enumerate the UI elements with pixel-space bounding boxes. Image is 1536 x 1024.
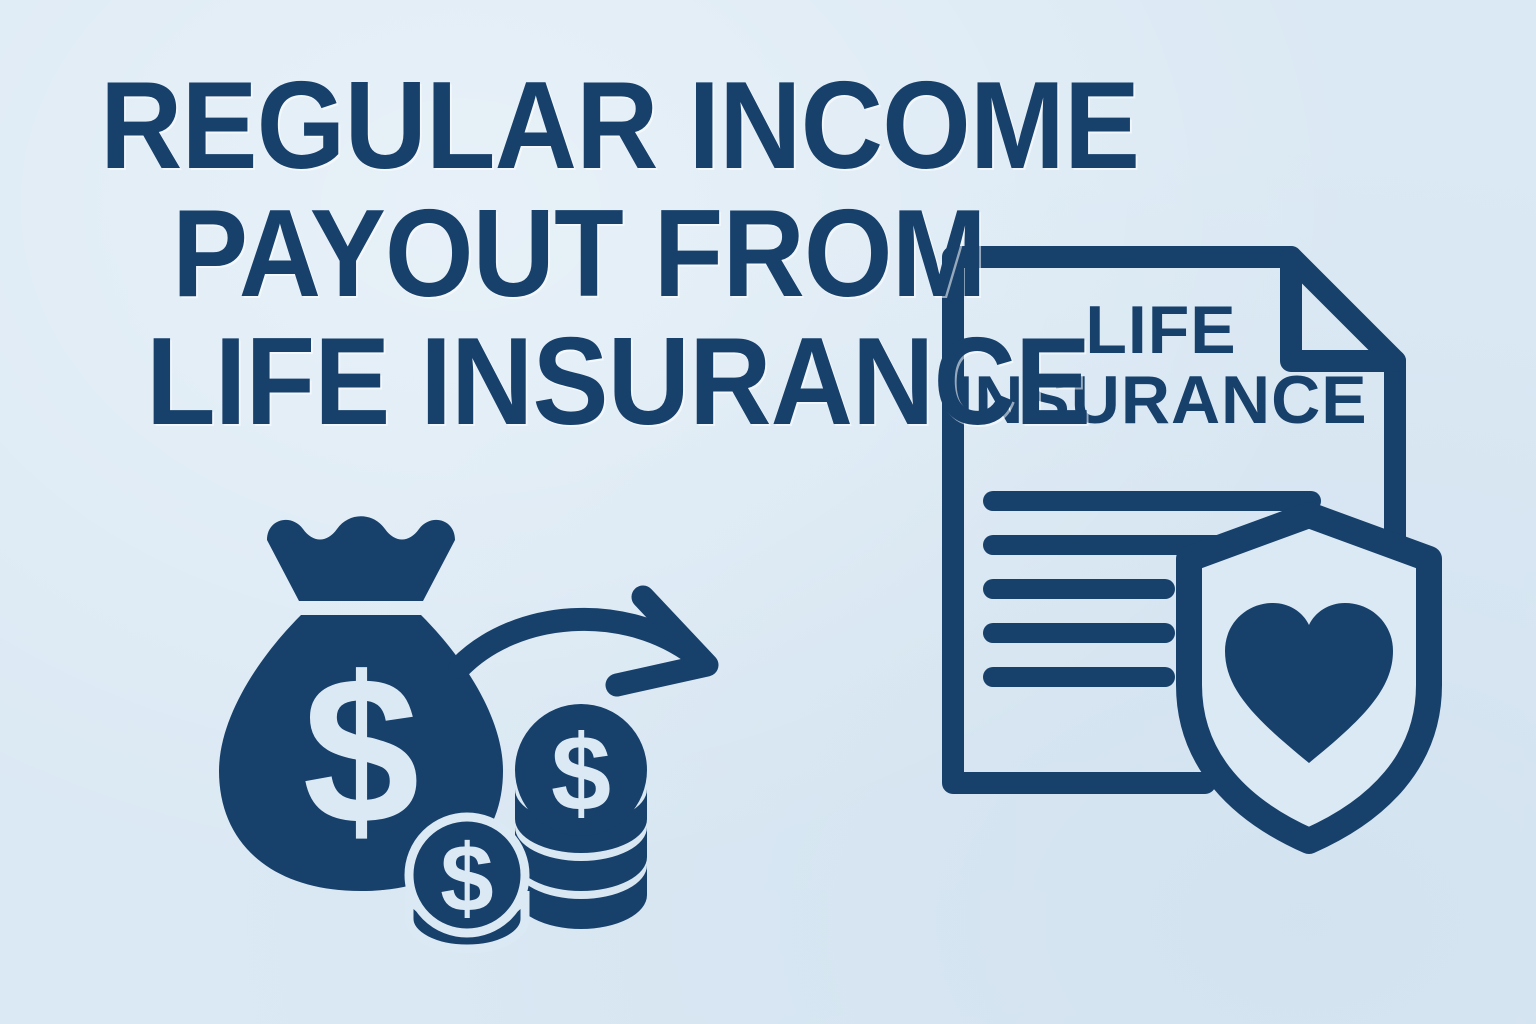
money-payout-illustration: $ $ $ [215,505,755,975]
life-insurance-policy-illustration: LIFE INSURANCE [925,215,1435,835]
dollar-sign-icon: $ [551,712,611,833]
page-title: REGULAR INCOME PAYOUT FROM LIFE INSURANC… [100,62,980,446]
poster-canvas: REGULAR INCOME PAYOUT FROM LIFE INSURANC… [0,0,1536,1024]
coin-icon: $ [409,817,525,949]
dollar-sign-icon: $ [440,825,493,932]
coin-stack-icon: $ [515,704,647,929]
headline-line-3: LIFE INSURANCE [146,318,913,446]
headline-line-1: REGULAR INCOME [100,62,910,190]
curved-arrow-right-icon [460,597,707,685]
policy-title-line-1: LIFE [1085,292,1236,368]
dollar-sign-icon: $ [303,633,420,868]
headline-line-2: PAYOUT FROM [172,190,915,318]
shield-icon [1189,515,1429,841]
money-bag-knot [267,516,455,601]
